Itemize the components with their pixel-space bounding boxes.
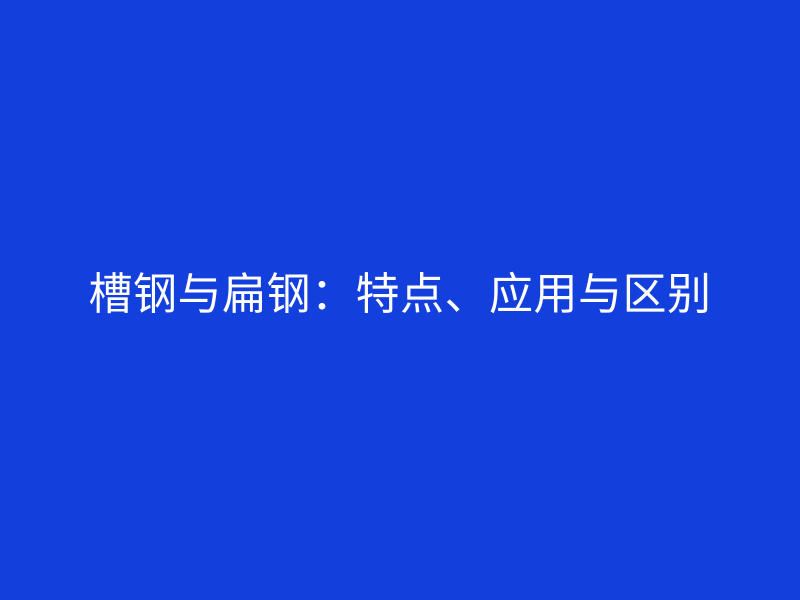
title-block: 槽钢与扁钢：特点、应用与区别	[0, 269, 800, 321]
page-title: 槽钢与扁钢：特点、应用与区别	[24, 269, 776, 321]
title-banner: 槽钢与扁钢：特点、应用与区别	[0, 0, 800, 600]
